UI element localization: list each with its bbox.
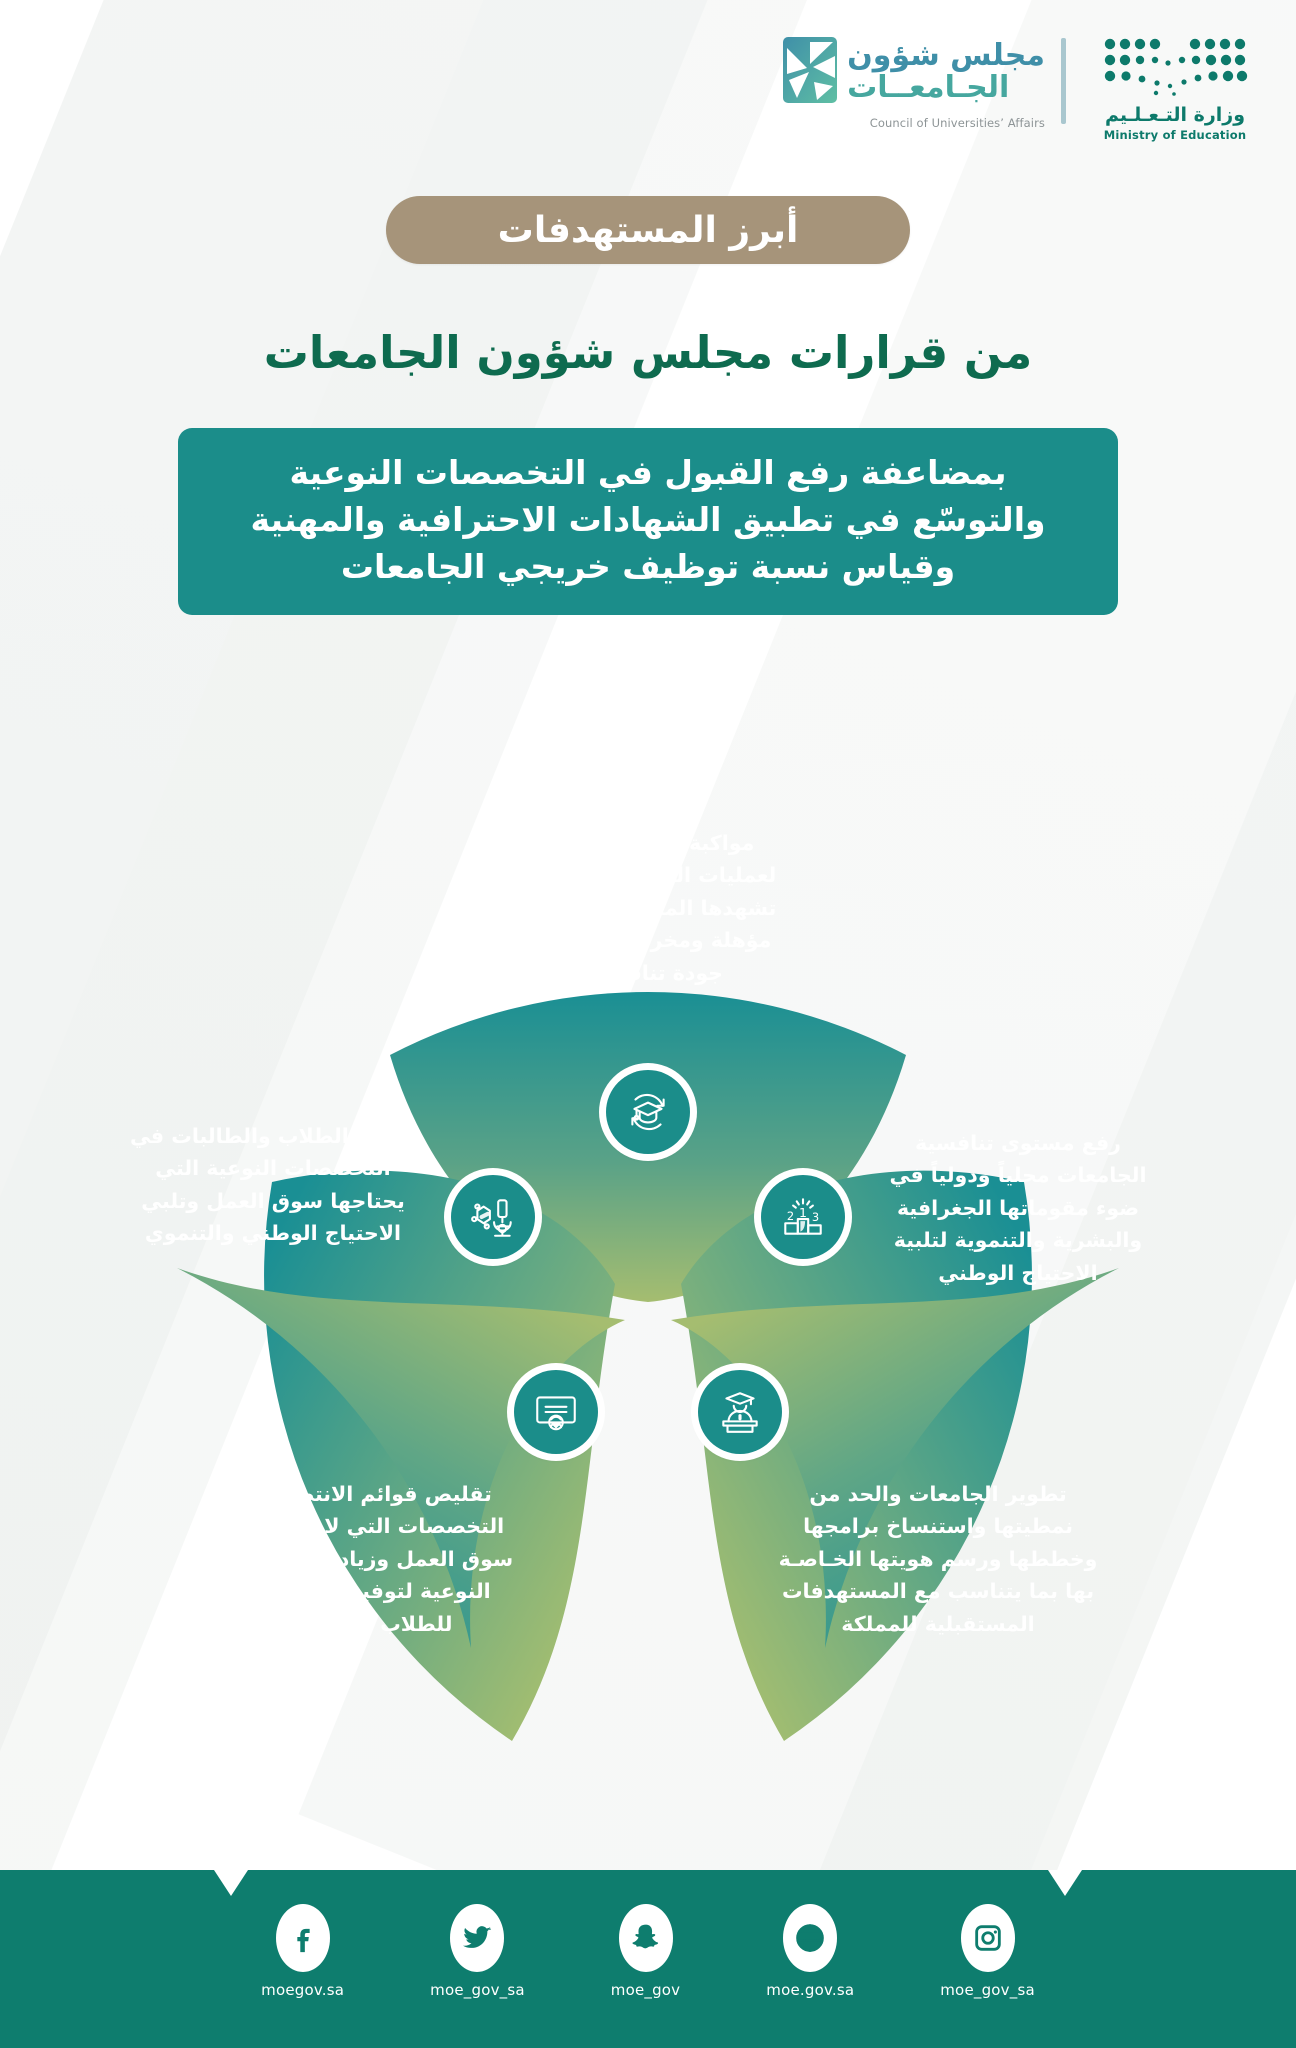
social-handle-instagram: moe_gov_sa bbox=[940, 1981, 1035, 1999]
graduation-cap-refresh-icon-badge bbox=[606, 1070, 690, 1154]
objectives-circle-diagram: مواكبة مخرجات الجامعات لعمليات التطوير ا… bbox=[73, 692, 1223, 1842]
logo-divider bbox=[1061, 38, 1066, 124]
footer-social-bar: moegov.sa moe_gov_sa moe_gov bbox=[0, 1870, 1296, 2048]
social-link-instagram[interactable]: moe_gov_sa bbox=[940, 1904, 1035, 1999]
svg-text:3: 3 bbox=[812, 1210, 819, 1224]
social-link-website[interactable]: moe.gov.sa bbox=[766, 1904, 854, 1999]
microscope-molecule-icon-badge bbox=[451, 1175, 535, 1259]
social-handle-facebook: moegov.sa bbox=[261, 1981, 344, 1999]
footer-notch-right bbox=[1048, 1870, 1082, 1896]
social-handle-website: moe.gov.sa bbox=[766, 1981, 854, 1999]
microscope-molecule-icon bbox=[468, 1192, 518, 1242]
certificate-seal-icon-badge bbox=[514, 1370, 598, 1454]
council-logo-english: Council of Universities’ Affairs bbox=[870, 116, 1045, 130]
svg-text:2: 2 bbox=[787, 1209, 794, 1223]
council-logo-line2: الجـامعــات bbox=[847, 72, 1009, 104]
footer-notch-left bbox=[214, 1870, 248, 1896]
podium-ranking-icon: 1 2 3 bbox=[778, 1192, 828, 1242]
banner-line-3: وقياس نسبة توظيف خريجي الجامعات bbox=[208, 544, 1088, 591]
podium-ranking-icon-badge: 1 2 3 bbox=[761, 1175, 845, 1259]
banner-line-1: بمضاعفة رفع القبول في التخصصات النوعية bbox=[208, 450, 1088, 497]
graduation-cap-refresh-icon bbox=[623, 1087, 673, 1137]
facebook-icon[interactable] bbox=[276, 1904, 330, 1972]
graduate-lecturer-icon bbox=[715, 1387, 765, 1437]
statement-banner: بمضاعفة رفع القبول في التخصصات النوعية و… bbox=[178, 428, 1118, 615]
ministry-logo-english: Ministry of Education bbox=[1104, 128, 1247, 142]
instagram-icon[interactable] bbox=[961, 1904, 1015, 1972]
twitter-icon[interactable] bbox=[450, 1904, 504, 1972]
page-heading: من قرارات مجلس شؤون الجامعات bbox=[0, 326, 1296, 379]
snapchat-icon[interactable] bbox=[619, 1904, 673, 1972]
council-of-universities-affairs-logo: مجلس شؤون الجـامعــات bbox=[781, 32, 1045, 130]
social-handle-snapchat: moe_gov bbox=[611, 1981, 681, 1999]
globe-icon[interactable] bbox=[783, 1904, 837, 1972]
certificate-seal-icon bbox=[531, 1387, 581, 1437]
council-logo-line1: مجلس شؤون bbox=[847, 40, 1045, 72]
social-handle-twitter: moe_gov_sa bbox=[430, 1981, 525, 1999]
header: مجلس شؤون الجـامعــات bbox=[0, 28, 1296, 148]
ministry-logo-arabic: وزارة التـعـلـيم bbox=[1105, 104, 1245, 126]
graduate-lecturer-icon-badge bbox=[698, 1370, 782, 1454]
social-link-snapchat[interactable]: moe_gov bbox=[611, 1904, 681, 1999]
page-title-pill: أبرز المستهدفات bbox=[386, 196, 910, 264]
moe-dots-logo-icon bbox=[1100, 36, 1250, 102]
svg-text:1: 1 bbox=[799, 1205, 807, 1220]
social-link-twitter[interactable]: moe_gov_sa bbox=[430, 1904, 525, 1999]
council-book-logo-icon bbox=[781, 34, 839, 110]
social-link-facebook[interactable]: moegov.sa bbox=[261, 1904, 344, 1999]
banner-line-2: والتوسّع في تطبيق الشهادات الاحترافية وا… bbox=[208, 497, 1088, 544]
ministry-of-education-logo: وزارة التـعـلـيم Ministry of Education bbox=[1082, 32, 1268, 142]
